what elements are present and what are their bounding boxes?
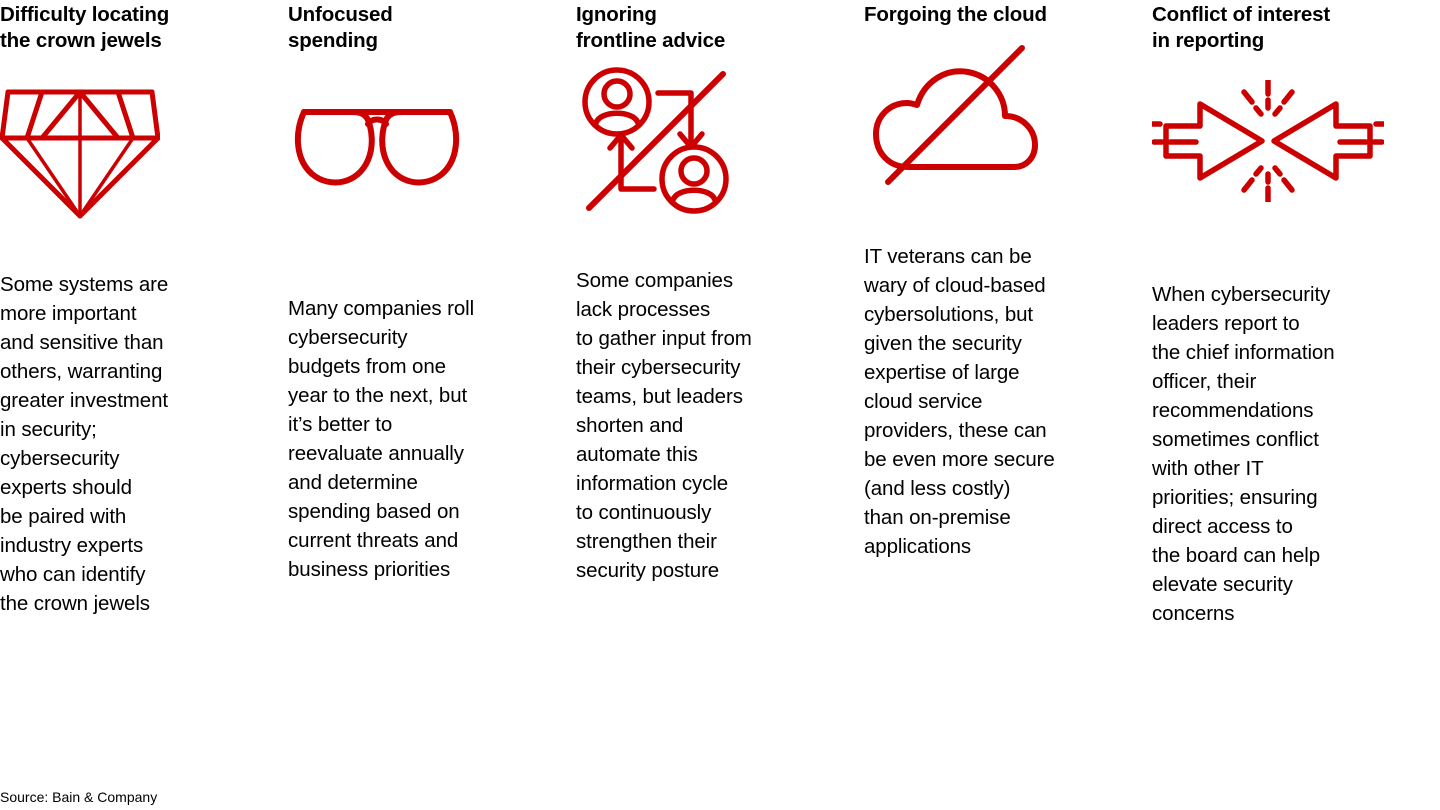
column-heading: Conflict of interest in reporting bbox=[1152, 0, 1412, 54]
column-heading: Ignoring frontline advice bbox=[576, 0, 836, 54]
column-heading: Difficulty locating the crown jewels bbox=[0, 0, 260, 54]
column-frontline-advice: Ignoring frontline advice bbox=[576, 0, 864, 628]
column-body: Some systems are more important and sens… bbox=[0, 270, 260, 618]
source-note: Source: Bain & Company bbox=[0, 788, 157, 806]
diamond-icon bbox=[0, 56, 260, 270]
column-body: Some companies lack processes to gather … bbox=[576, 266, 836, 585]
column-crown-jewels: Difficulty locating the crown jewels bbox=[0, 0, 288, 628]
colliding-arrows-icon bbox=[1152, 56, 1412, 280]
column-container: Difficulty locating the crown jewels bbox=[0, 0, 1440, 628]
column-conflict-of-interest: Conflict of interest in reporting bbox=[1152, 0, 1440, 628]
infographic-board: Difficulty locating the crown jewels bbox=[0, 0, 1440, 810]
column-heading: Unfocused spending bbox=[288, 0, 548, 54]
column-heading: Forgoing the cloud bbox=[864, 0, 1124, 28]
glasses-icon bbox=[288, 56, 548, 294]
column-unfocused-spending: Unfocused spending Many companies roll c… bbox=[288, 0, 576, 628]
two-way-feedback-blocked-icon bbox=[576, 56, 836, 266]
column-body: IT veterans can be wary of cloud-based c… bbox=[864, 242, 1124, 561]
column-body: When cybersecurity leaders report to the… bbox=[1152, 280, 1412, 628]
column-body: Many companies roll cybersecurity budget… bbox=[288, 294, 548, 584]
column-forgoing-cloud: Forgoing the cloud IT veterans can be wa… bbox=[864, 0, 1152, 628]
no-cloud-icon bbox=[864, 30, 1124, 242]
